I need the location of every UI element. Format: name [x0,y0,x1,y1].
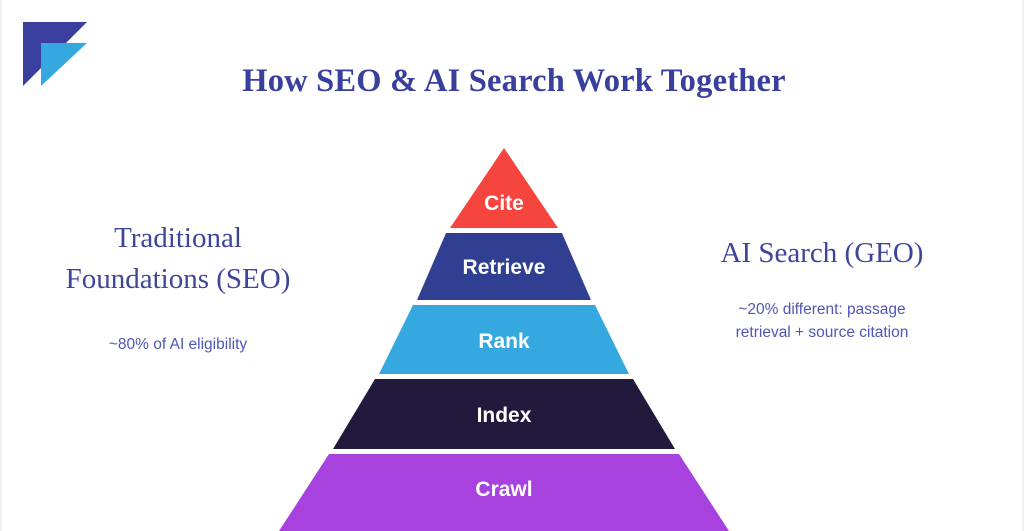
slide-canvas: How SEO & AI Search Work Together Tradit… [0,0,1024,531]
pyramid-level-crawl-label: Crawl [475,478,532,501]
pyramid-level-retrieve[interactable]: Retrieve [417,233,591,300]
pyramid-level-index[interactable]: Index [333,379,675,449]
pyramid-level-rank-label: Rank [478,330,530,353]
pyramid-level-index-label: Index [477,404,532,427]
pyramid-level-cite-shape [450,148,558,228]
pyramid-level-retrieve-label: Retrieve [463,256,546,279]
pyramid-level-cite[interactable]: Cite [450,148,558,228]
pyramid-level-crawl[interactable]: Crawl [279,454,729,531]
pyramid-diagram: Cite Retrieve Rank Index Crawl [2,0,1024,531]
pyramid-level-cite-label: Cite [484,192,524,215]
pyramid-level-rank[interactable]: Rank [379,305,629,374]
